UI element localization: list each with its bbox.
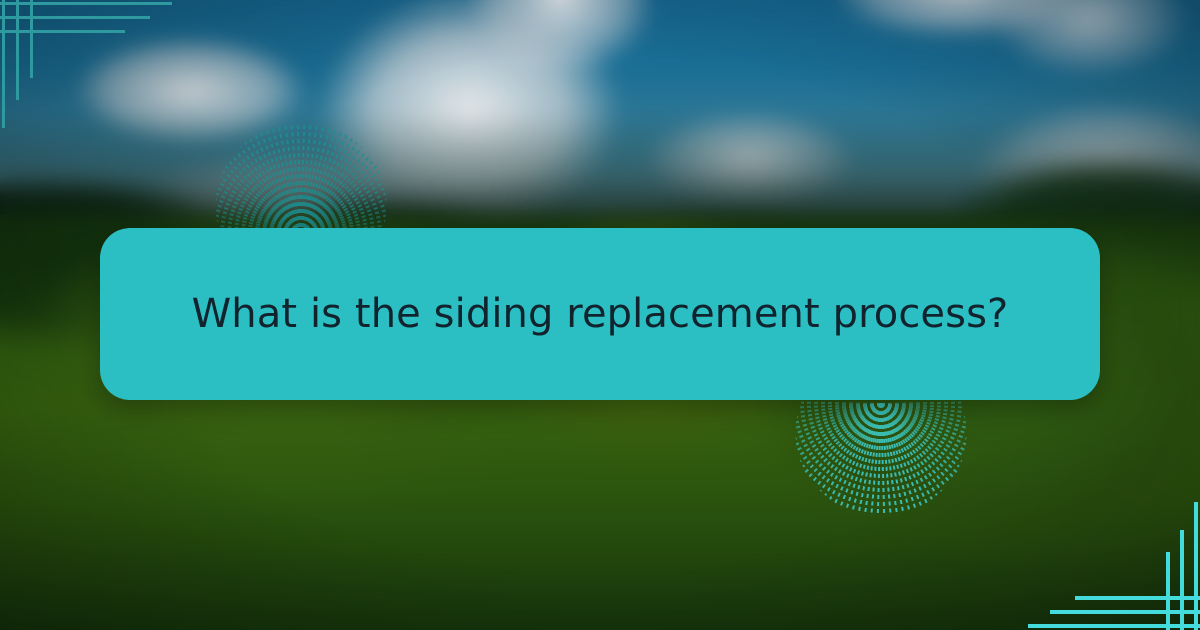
- banner-canvas: What is the siding replacement process?: [0, 0, 1200, 630]
- question-card: What is the siding replacement process?: [100, 228, 1100, 400]
- question-text: What is the siding replacement process?: [136, 290, 1065, 338]
